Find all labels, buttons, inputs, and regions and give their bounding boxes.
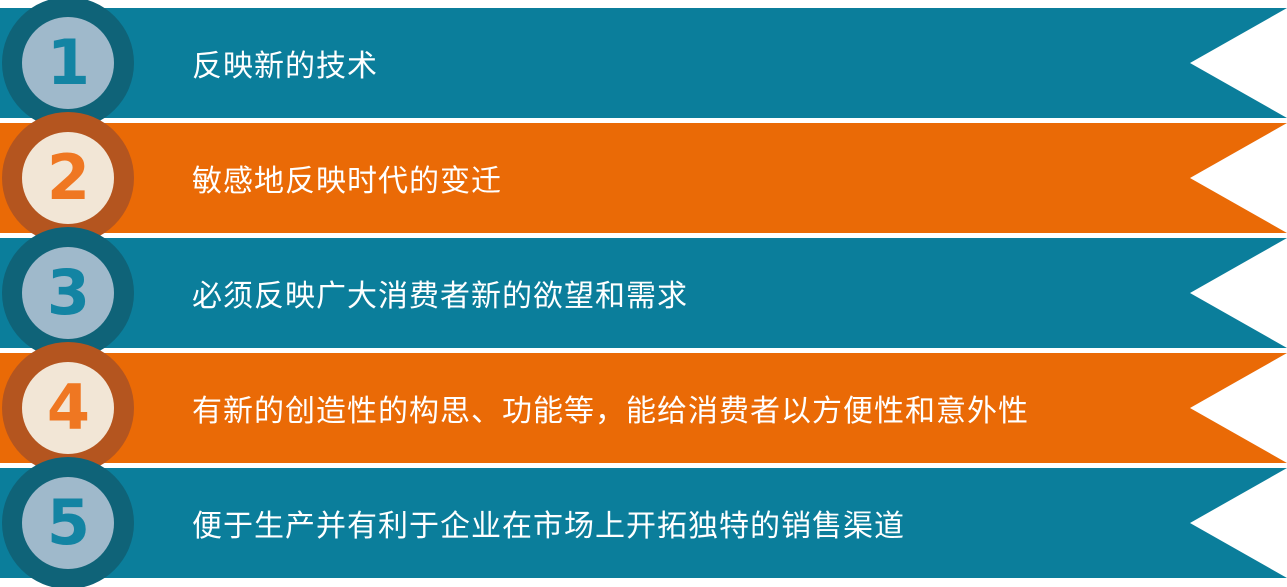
number-badge-5: 5 (2, 457, 134, 587)
ribbon-label-5: 便于生产并有利于企业在市场上开拓独特的销售渠道 (192, 468, 1167, 578)
number-badge-2: 2 (2, 112, 134, 244)
ribbon-row-5[interactable]: 5 便于生产并有利于企业在市场上开拓独特的销售渠道 (0, 468, 1287, 578)
ribbon-row-4[interactable]: 4 有新的创造性的构思、功能等，能给消费者以方便性和意外性 (0, 353, 1287, 463)
number-badge-inner-2: 2 (22, 132, 114, 224)
number-badge-4: 4 (2, 342, 134, 474)
ribbon-label-4: 有新的创造性的构思、功能等，能给消费者以方便性和意外性 (192, 353, 1167, 463)
ribbon-row-3[interactable]: 3 必须反映广大消费者新的欲望和需求 (0, 238, 1287, 348)
number-badge-inner-1: 1 (22, 17, 114, 109)
ribbon-row-2[interactable]: 2 敏感地反映时代的变迁 (0, 123, 1287, 233)
number-badge-inner-4: 4 (22, 362, 114, 454)
number-badge-inner-3: 3 (22, 247, 114, 339)
number-label-5: 5 (47, 492, 89, 554)
number-label-3: 3 (47, 262, 89, 324)
ribbon-label-3: 必须反映广大消费者新的欲望和需求 (192, 238, 1167, 348)
number-label-2: 2 (47, 147, 89, 209)
ribbon-label-2: 敏感地反映时代的变迁 (192, 123, 1167, 233)
ribbon-row-1[interactable]: 1 反映新的技术 (0, 8, 1287, 118)
ribbon-label-1: 反映新的技术 (192, 8, 1167, 118)
number-badge-3: 3 (2, 227, 134, 359)
numbered-ribbon-diagram: 1 反映新的技术 2 敏感地反映时代的变迁 3 必须反映广大消费者新的欲望和需求… (0, 0, 1287, 587)
number-badge-1: 1 (2, 0, 134, 129)
number-badge-inner-5: 5 (22, 477, 114, 569)
number-label-4: 4 (47, 377, 89, 439)
number-label-1: 1 (47, 32, 89, 94)
